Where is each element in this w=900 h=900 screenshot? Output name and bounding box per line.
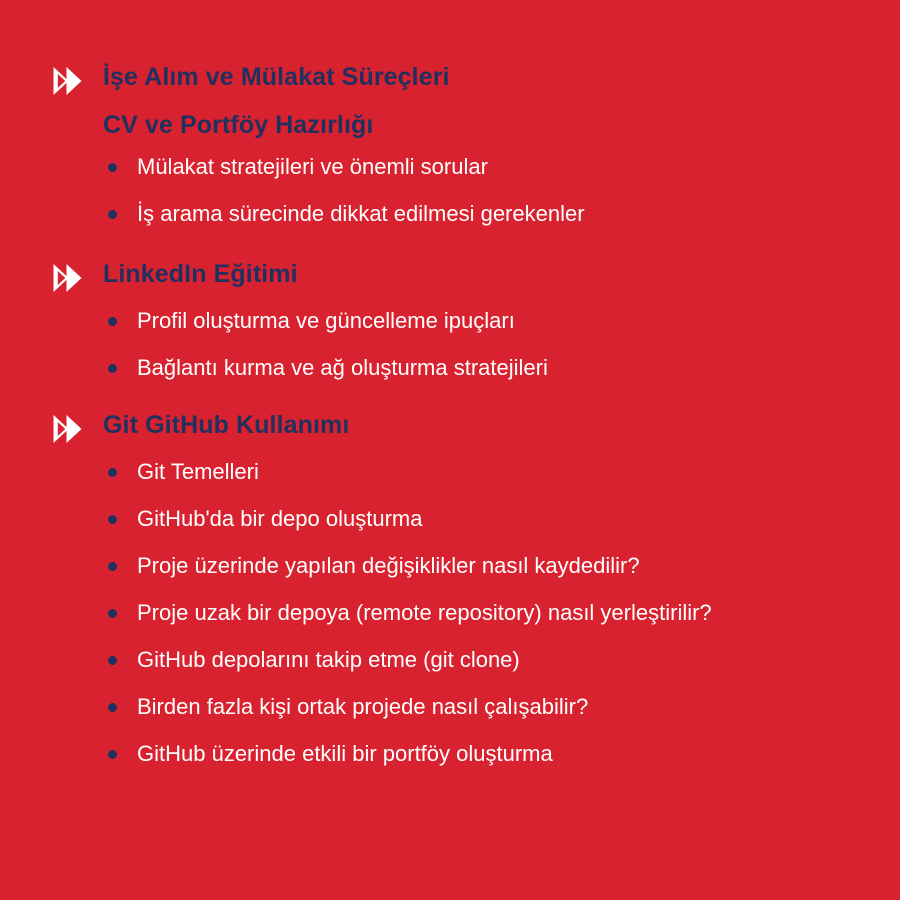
list-item: GitHub depolarını takip etme (git clone) bbox=[108, 645, 777, 675]
section-heading: İşe Alım ve Mülakat Süreçleri bbox=[103, 62, 450, 92]
double-chevron-right-icon bbox=[52, 65, 86, 97]
bullet-list: Profil oluşturma ve güncelleme ipuçları … bbox=[52, 306, 860, 383]
list-item-label: GitHub depolarını takip etme (git clone) bbox=[137, 647, 520, 672]
bullet-dot-icon bbox=[108, 750, 117, 759]
section-heading-row: Git GitHub Kullanımı bbox=[52, 410, 860, 445]
section-linkedin: LinkedIn Eğitimi Profil oluşturma ve gün… bbox=[52, 259, 860, 383]
bullet-dot-icon bbox=[108, 468, 117, 477]
list-item: Mülakat stratejileri ve önemli sorular bbox=[108, 152, 777, 182]
bullet-dot-icon bbox=[108, 562, 117, 571]
bullet-dot-icon bbox=[108, 656, 117, 665]
bullet-list: Mülakat stratejileri ve önemli sorular İ… bbox=[52, 152, 860, 229]
list-item-label: GitHub'da bir depo oluşturma bbox=[137, 506, 422, 531]
list-item-label: Proje üzerinde yapılan değişiklikler nas… bbox=[137, 553, 640, 578]
list-item: Proje uzak bir depoya (remote repository… bbox=[108, 598, 777, 628]
section-heading: LinkedIn Eğitimi bbox=[103, 259, 298, 289]
list-item: GitHub üzerinde etkili bir portföy oluşt… bbox=[108, 739, 777, 769]
section-ise-alim: İşe Alım ve Mülakat Süreçleri CV ve Port… bbox=[52, 62, 860, 229]
list-item-label: Proje uzak bir depoya (remote repository… bbox=[137, 600, 712, 625]
section-heading: Git GitHub Kullanımı bbox=[103, 410, 349, 440]
list-item: Proje üzerinde yapılan değişiklikler nas… bbox=[108, 551, 777, 581]
double-chevron-right-icon bbox=[52, 413, 86, 445]
bullet-dot-icon bbox=[108, 163, 117, 172]
bullet-dot-icon bbox=[108, 609, 117, 618]
section-heading-row: İşe Alım ve Mülakat Süreçleri bbox=[52, 62, 860, 97]
list-item-label: Mülakat stratejileri ve önemli sorular bbox=[137, 154, 488, 179]
list-item-label: Birden fazla kişi ortak projede nasıl ça… bbox=[137, 694, 588, 719]
list-item: İş arama sürecinde dikkat edilmesi gerek… bbox=[108, 199, 777, 229]
list-item: Profil oluşturma ve güncelleme ipuçları bbox=[108, 306, 777, 336]
slide-root: İşe Alım ve Mülakat Süreçleri CV ve Port… bbox=[0, 0, 900, 900]
double-chevron-right-icon bbox=[52, 262, 86, 294]
list-item-label: Git Temelleri bbox=[137, 459, 259, 484]
list-item: Bağlantı kurma ve ağ oluşturma stratejil… bbox=[108, 353, 777, 383]
section-subheading: CV ve Portföy Hazırlığı bbox=[52, 110, 860, 140]
list-item-label: GitHub üzerinde etkili bir portföy oluşt… bbox=[137, 741, 553, 766]
bullet-dot-icon bbox=[108, 317, 117, 326]
section-heading-row: LinkedIn Eğitimi bbox=[52, 259, 860, 294]
list-item: GitHub'da bir depo oluşturma bbox=[108, 504, 777, 534]
bullet-list: Git Temelleri GitHub'da bir depo oluştur… bbox=[52, 457, 860, 769]
bullet-dot-icon bbox=[108, 703, 117, 712]
bullet-dot-icon bbox=[108, 210, 117, 219]
list-item: Git Temelleri bbox=[108, 457, 777, 487]
list-item-label: Profil oluşturma ve güncelleme ipuçları bbox=[137, 308, 515, 333]
list-item-label: İş arama sürecinde dikkat edilmesi gerek… bbox=[137, 201, 585, 226]
bullet-dot-icon bbox=[108, 515, 117, 524]
bullet-dot-icon bbox=[108, 364, 117, 373]
list-item-label: Bağlantı kurma ve ağ oluşturma stratejil… bbox=[137, 355, 548, 380]
section-git-github: Git GitHub Kullanımı Git Temelleri GitHu… bbox=[52, 410, 860, 769]
list-item: Birden fazla kişi ortak projede nasıl ça… bbox=[108, 692, 777, 722]
